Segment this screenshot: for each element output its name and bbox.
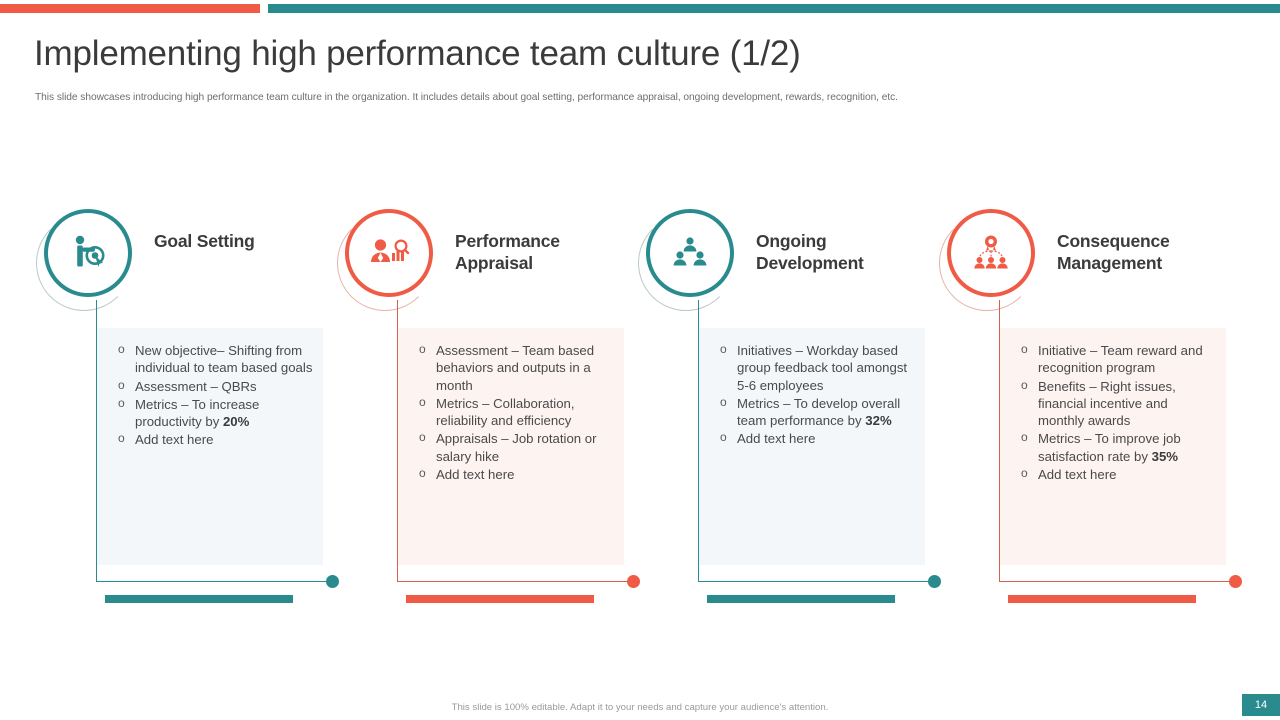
top-accent-bar-teal [268, 4, 1280, 13]
card-accent-bar [707, 595, 895, 603]
card-icon-circle [646, 209, 742, 305]
person-pointing-target-icon [65, 230, 111, 276]
team-hierarchy-icon [667, 230, 713, 276]
list-item: Assessment – Team based behaviors and ou… [410, 342, 614, 394]
list-item: Add text here [109, 431, 313, 448]
card-icon-circle [345, 209, 441, 305]
card-baseline-connector [698, 581, 934, 582]
card-performance-appraisal[interactable]: Performance Appraisal Assessment – Team … [337, 195, 637, 615]
icon-ring [44, 209, 132, 297]
card-icon-circle [947, 209, 1043, 305]
card-baseline-connector [999, 581, 1235, 582]
card-endpoint-dot [1229, 575, 1242, 588]
list-item: Metrics – To develop overall team perfor… [711, 395, 915, 430]
person-chart-magnifier-icon [366, 230, 412, 276]
list-item: Metrics – To increase productivity by 20… [109, 396, 313, 431]
card-consequence-management[interactable]: Consequence Management Initiative – Team… [939, 195, 1239, 615]
card-accent-bar [1008, 595, 1196, 603]
award-team-icon [968, 230, 1014, 276]
page-number-badge: 14 [1242, 694, 1280, 716]
cards-container: Goal Setting New objective– Shifting fro… [0, 195, 1280, 615]
card-baseline-connector [96, 581, 332, 582]
page-title: Implementing high performance team cultu… [34, 34, 801, 74]
footer-note: This slide is 100% editable. Adapt it to… [0, 702, 1280, 713]
card-bullet-list: Initiative – Team reward and recognition… [1012, 342, 1216, 483]
page-subtitle: This slide showcases introducing high pe… [35, 92, 898, 103]
card-icon-circle [44, 209, 140, 305]
card-accent-bar [406, 595, 594, 603]
list-item: Assessment – QBRs [109, 378, 313, 395]
card-accent-bar [105, 595, 293, 603]
list-item: Appraisals – Job rotation or salary hike [410, 430, 614, 465]
list-item: Add text here [1012, 466, 1216, 483]
list-item: Metrics – Collaboration, reliability and… [410, 395, 614, 430]
list-item: Add text here [410, 466, 614, 483]
card-body-panel: New objective– Shifting from individual … [97, 328, 323, 565]
card-goal-setting[interactable]: Goal Setting New objective– Shifting fro… [36, 195, 336, 615]
card-body-panel: Assessment – Team based behaviors and ou… [398, 328, 624, 565]
list-item: Add text here [711, 430, 915, 447]
card-title: Goal Setting [154, 231, 329, 253]
list-item: Metrics – To improve job satisfaction ra… [1012, 430, 1216, 465]
list-item: Initiative – Team reward and recognition… [1012, 342, 1216, 377]
slide-canvas: Implementing high performance team cultu… [0, 0, 1280, 720]
top-accent-bar-coral [0, 4, 260, 13]
card-bullet-list: Initiatives – Workday based group feedba… [711, 342, 915, 448]
list-item: Benefits – Right issues, financial incen… [1012, 378, 1216, 430]
icon-ring [345, 209, 433, 297]
card-body-panel: Initiative – Team reward and recognition… [1000, 328, 1226, 565]
icon-ring [646, 209, 734, 297]
card-title: Ongoing Development [756, 231, 931, 275]
card-ongoing-development[interactable]: Ongoing Development Initiatives – Workda… [638, 195, 938, 615]
card-body-panel: Initiatives – Workday based group feedba… [699, 328, 925, 565]
card-title: Performance Appraisal [455, 231, 630, 275]
card-bullet-list: New objective– Shifting from individual … [109, 342, 313, 449]
icon-ring [947, 209, 1035, 297]
card-bullet-list: Assessment – Team based behaviors and ou… [410, 342, 614, 483]
list-item: New objective– Shifting from individual … [109, 342, 313, 377]
card-baseline-connector [397, 581, 633, 582]
list-item: Initiatives – Workday based group feedba… [711, 342, 915, 394]
card-title: Consequence Management [1057, 231, 1232, 275]
